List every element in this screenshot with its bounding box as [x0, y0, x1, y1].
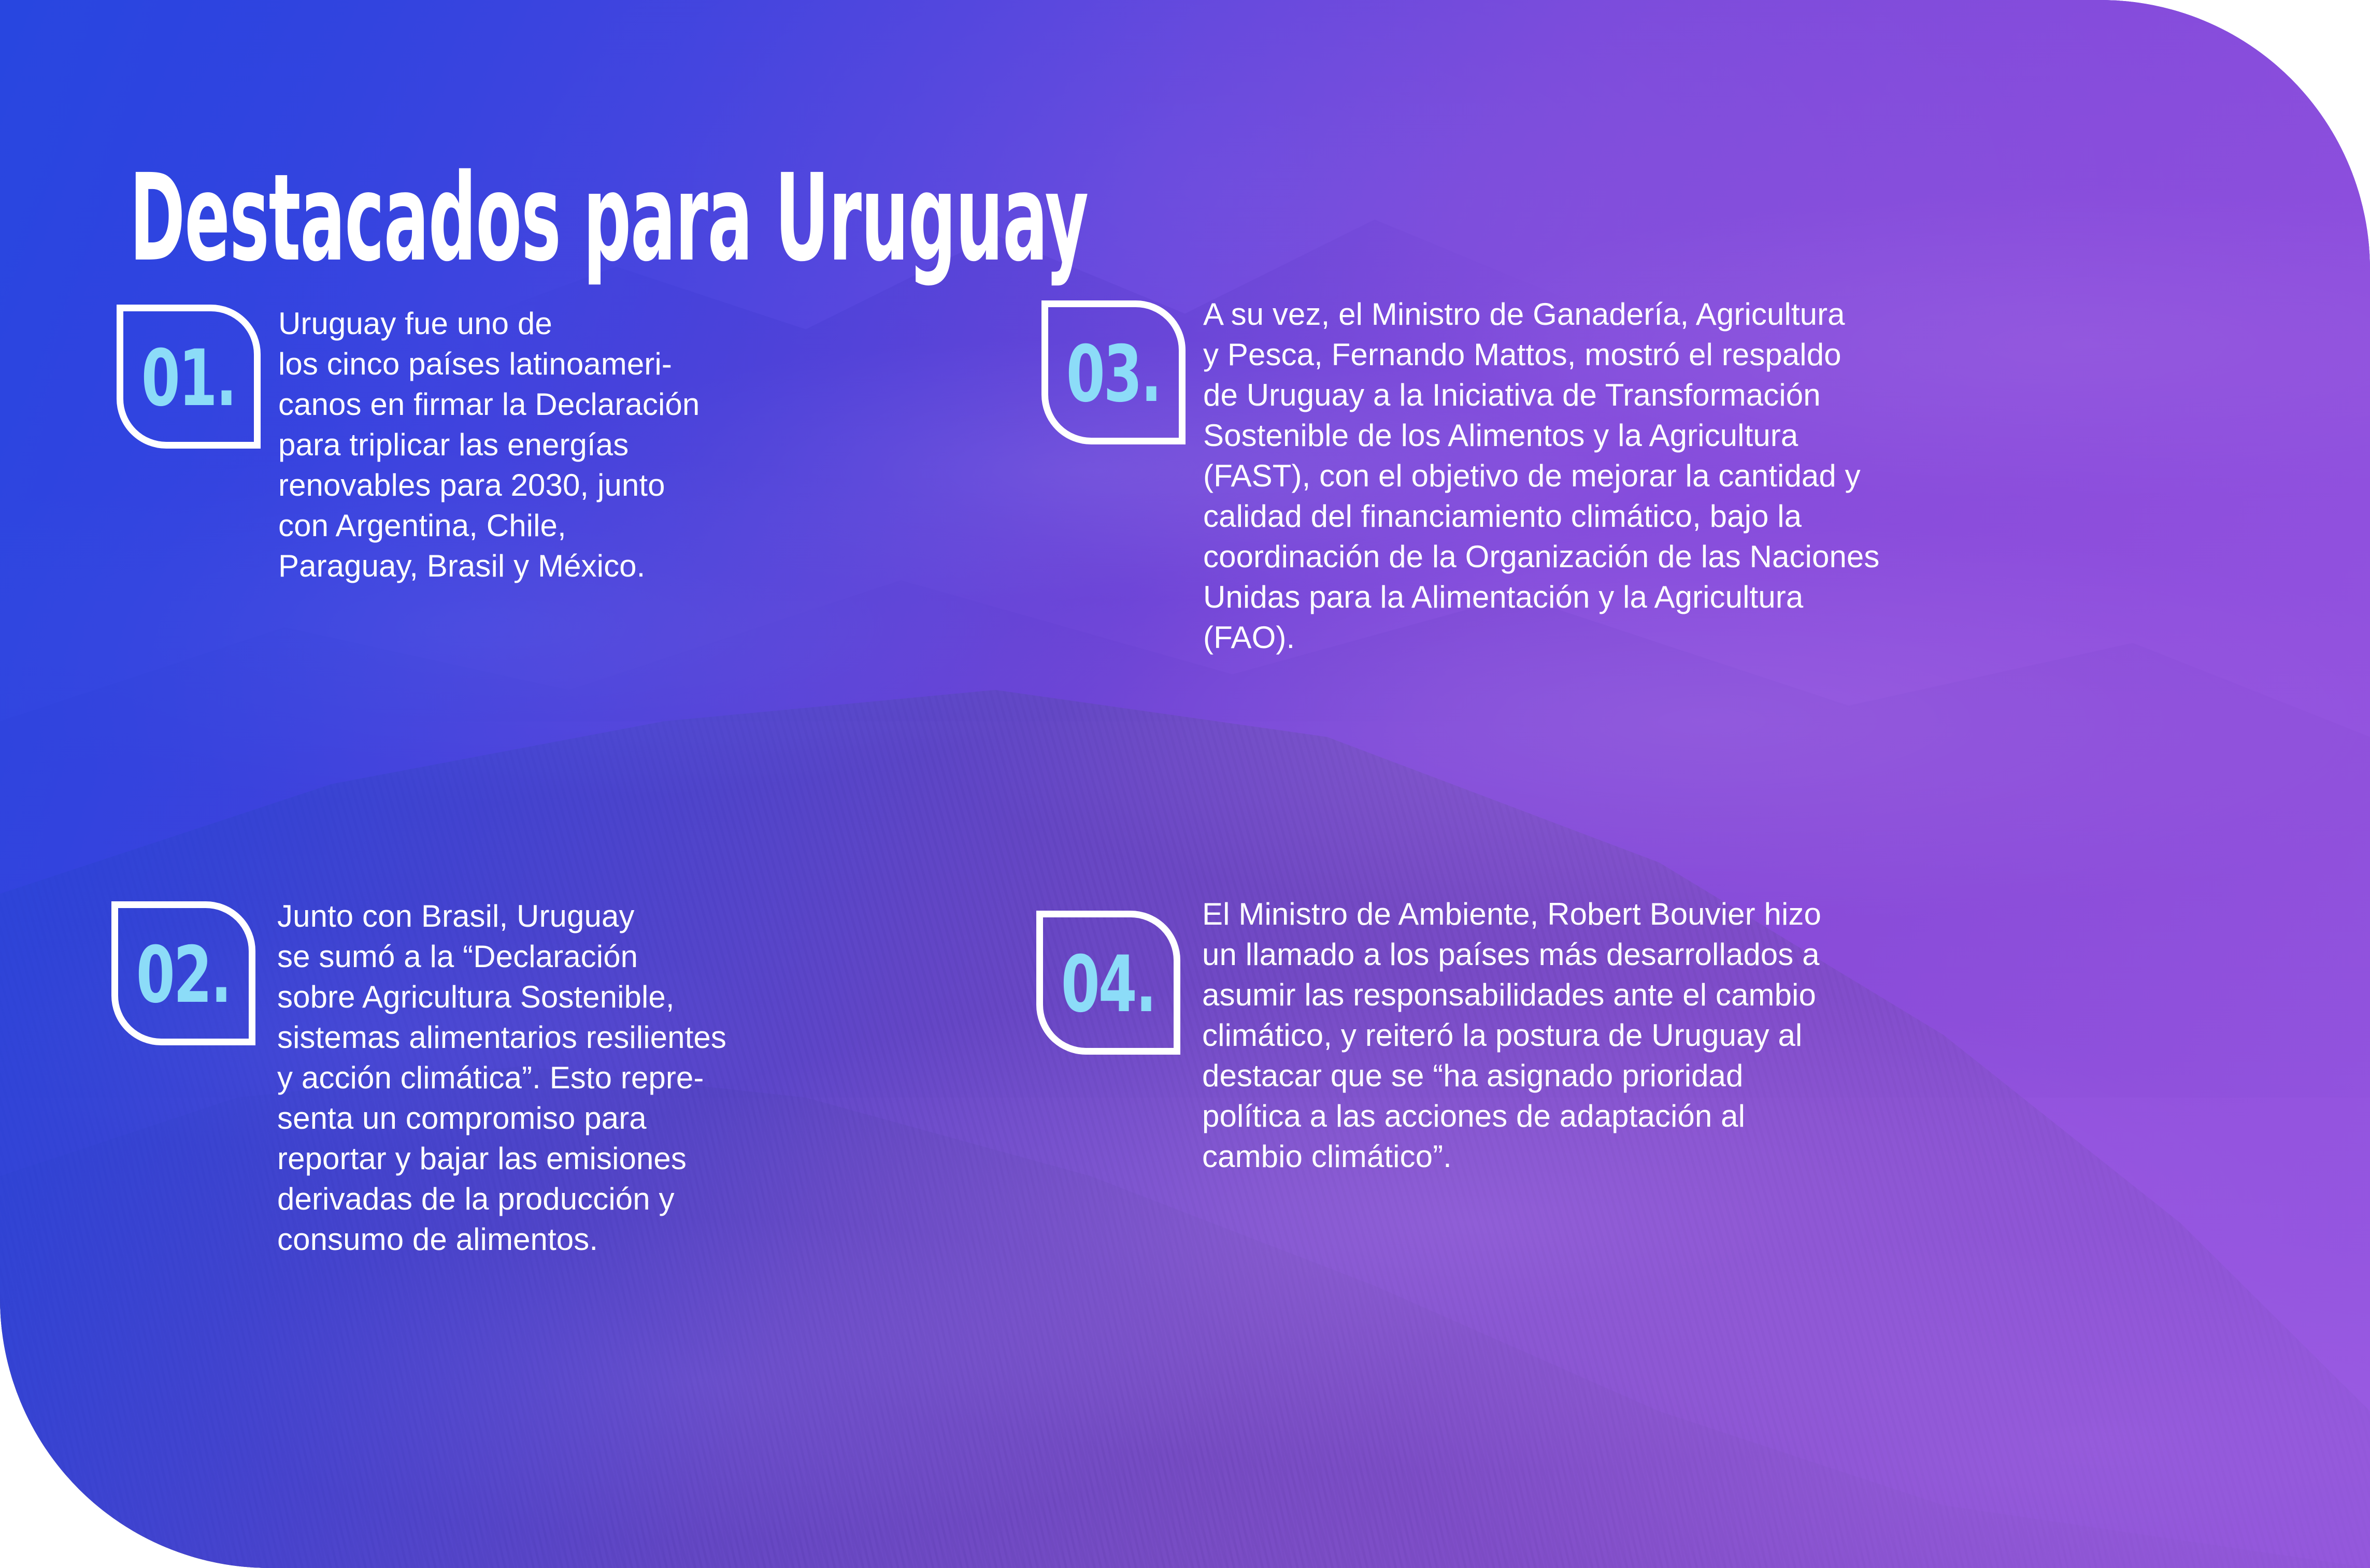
highlight-item-1: 01. Uruguay fue uno de los cinco países …	[117, 305, 952, 586]
badge-number-02-label: 02.	[136, 937, 231, 1014]
badge-number-03: 03.	[1041, 300, 1186, 444]
highlight-item-3: 03. A su vez, el Ministro de Ganadería, …	[1041, 300, 2271, 658]
page-title: Destacados para Uruguay	[130, 158, 1088, 278]
highlight-item-2: 02. Junto con Brasil, Uruguay se sumó a …	[111, 901, 977, 1260]
highlight-item-4-text: El Ministro de Ambiente, Robert Bouvier …	[1202, 894, 2228, 1177]
badge-number-02: 02.	[111, 901, 255, 1045]
badge-number-01: 01.	[117, 305, 261, 449]
badge-number-04-label: 04.	[1061, 946, 1155, 1024]
highlight-item-1-text: Uruguay fue uno de los cinco países lati…	[278, 304, 952, 586]
badge-number-01-label: 01.	[141, 340, 236, 418]
highlight-item-3-text: A su vez, el Ministro de Ganadería, Agri…	[1203, 294, 2271, 658]
badge-number-03-label: 03.	[1066, 336, 1161, 413]
badge-number-04: 04.	[1036, 911, 1180, 1055]
highlight-item-4: 04. El Ministro de Ambiente, Robert Bouv…	[1036, 911, 2228, 1177]
highlight-item-2-text: Junto con Brasil, Uruguay se sumó a la “…	[277, 896, 977, 1260]
infographic-card: Destacados para Uruguay 01. Uruguay fue …	[0, 0, 2370, 1568]
content-layer: Destacados para Uruguay 01. Uruguay fue …	[0, 0, 2370, 1568]
